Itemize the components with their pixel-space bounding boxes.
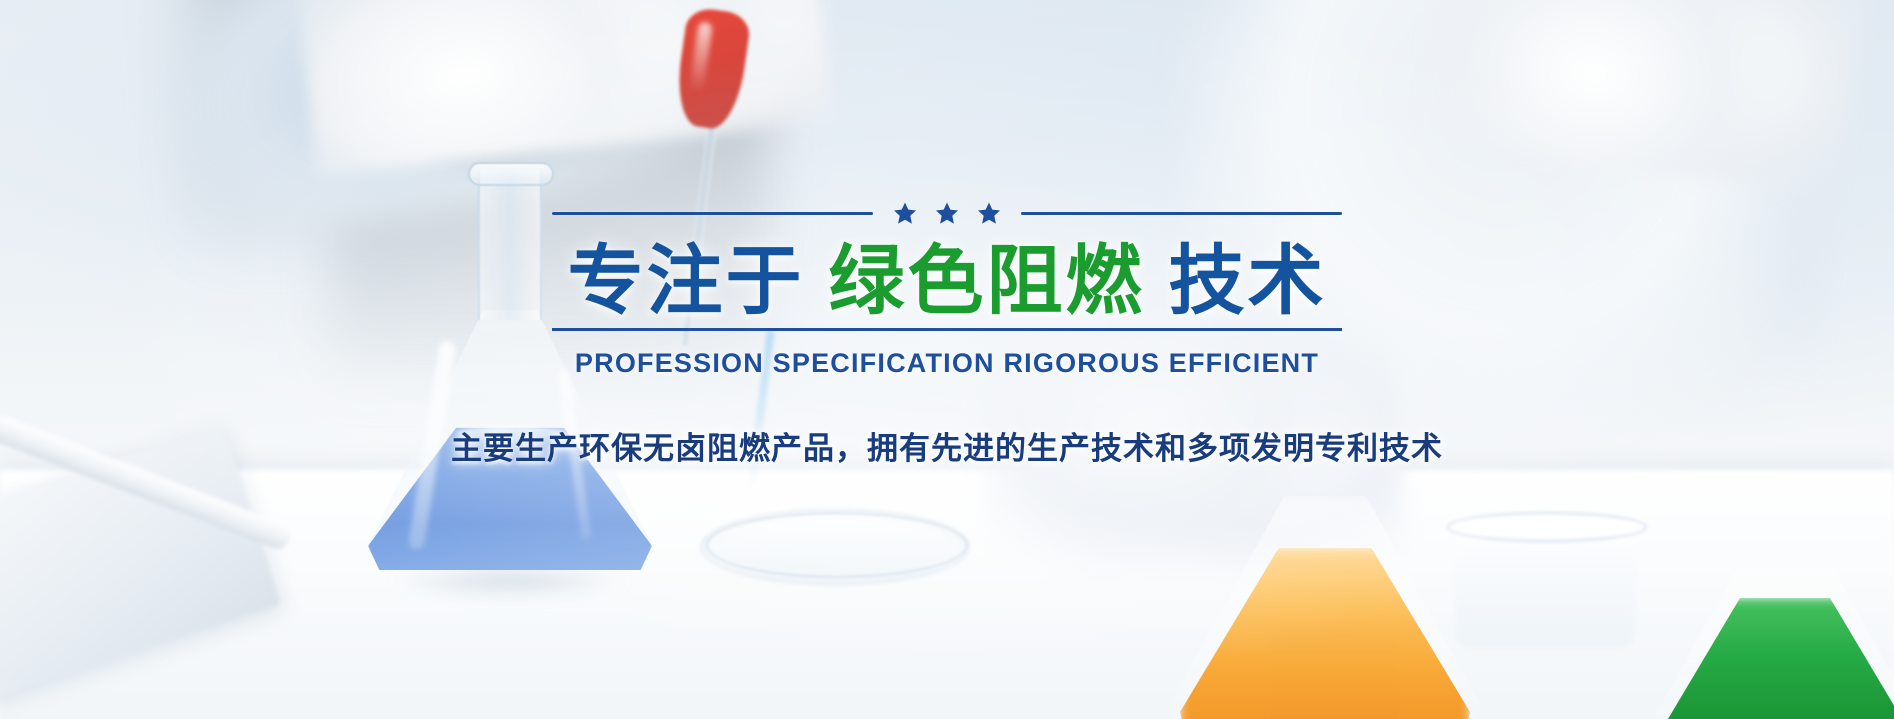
star-icon [893,202,917,225]
title-decoration [552,200,1342,226]
decoration-rule-right [1021,212,1342,215]
tagline-chinese: 主要生产环保无卤阻燃产品，拥有先进的生产技术和多项发明专利技术 [451,423,1443,468]
decoration-rule-left [552,212,873,215]
headline-part-2: 绿色阻燃 [829,236,1145,325]
page-title: 专注于绿色阻燃技术 [552,240,1342,331]
star-icon [935,202,959,225]
banner-content: 专注于绿色阻燃技术 PROFESSION SPECIFICATION RIGOR… [0,0,1894,719]
hero-banner: 专注于绿色阻燃技术 PROFESSION SPECIFICATION RIGOR… [0,0,1894,719]
decoration-stars [873,202,1021,225]
star-icon [977,202,1001,225]
headline-part-3: 技术 [1169,236,1327,325]
headline-part-1: 专注于 [568,236,805,325]
headline: 专注于绿色阻燃技术 [552,240,1342,322]
subtitle-english: PROFESSION SPECIFICATION RIGOROUS EFFICI… [575,348,1319,379]
